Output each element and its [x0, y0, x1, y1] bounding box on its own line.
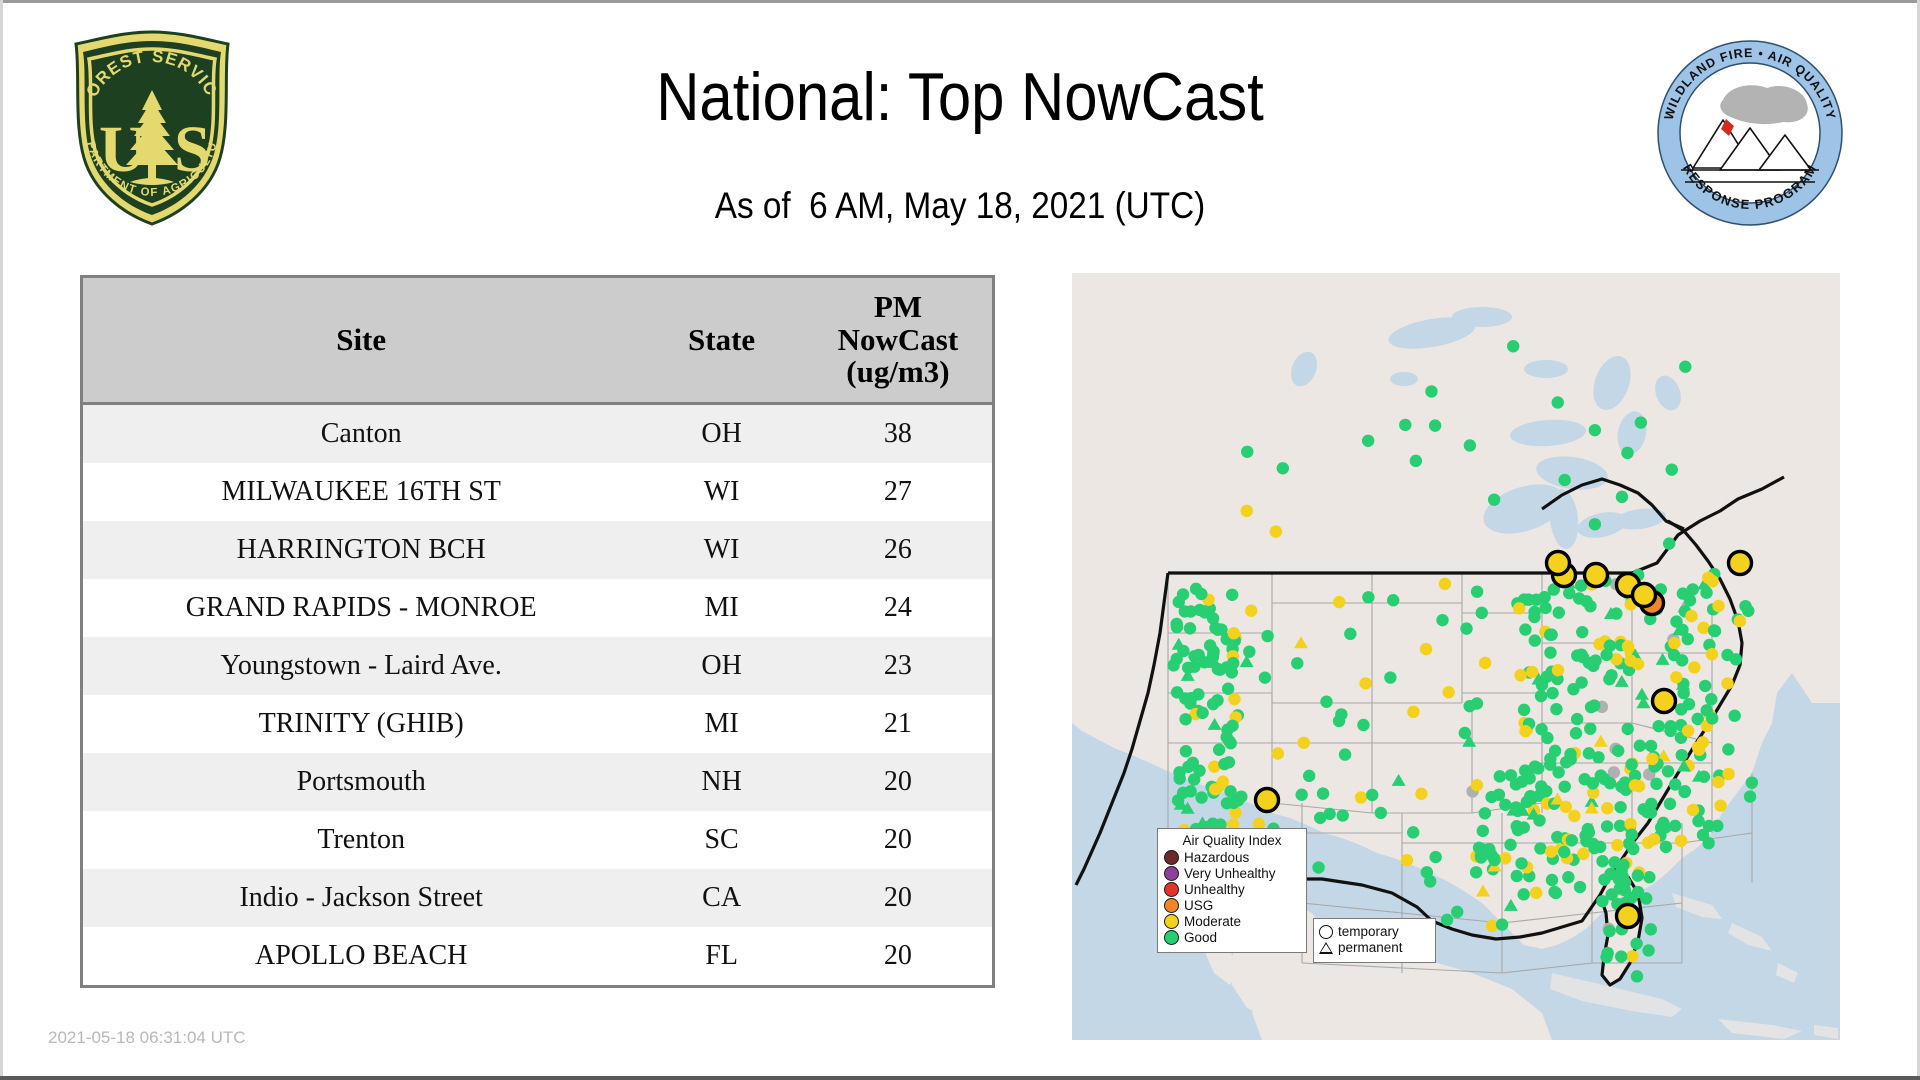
monitor-dot — [1663, 537, 1675, 549]
table-cell-site: Portsmouth — [82, 753, 640, 811]
aqi-legend-label: Very Unhealthy — [1184, 867, 1276, 881]
table-cell-state: OH — [639, 637, 803, 695]
monitor-dot — [1653, 720, 1665, 732]
monitor-dot — [1744, 790, 1756, 802]
monitor-dot — [1524, 790, 1536, 802]
monitor-dot — [1641, 806, 1653, 818]
monitor-dot — [1272, 747, 1284, 759]
table-cell-pm-nowcast: 24 — [804, 579, 994, 637]
monitor-dot — [1559, 780, 1571, 792]
monitor-dot — [1614, 820, 1626, 832]
monitor-dot — [1646, 753, 1658, 765]
monitor-dot — [1241, 505, 1253, 517]
monitor-dot — [1471, 697, 1483, 709]
table-cell-state: WI — [639, 463, 803, 521]
monitor-dot — [1410, 455, 1422, 467]
highlighted-monitor-marker[interactable] — [1256, 789, 1279, 812]
page-subtitle: As of 6 AM, May 18, 2021 (UTC) — [366, 185, 1554, 227]
monitor-dot — [1615, 780, 1627, 792]
monitor-dot — [1552, 664, 1564, 676]
table-row: TrentonSC20 — [82, 811, 994, 869]
monitor-dot — [1291, 657, 1303, 669]
monitor-dot — [1721, 677, 1733, 689]
monitor-dot — [1488, 493, 1500, 505]
monitor-dot — [1562, 871, 1574, 883]
monitor-dot — [1218, 758, 1230, 770]
table-cell-site: APOLLO BEACH — [82, 927, 640, 987]
monitor-dot — [1362, 435, 1374, 447]
aqi-color-swatch — [1164, 850, 1179, 865]
monitor-dot — [1550, 887, 1562, 899]
table-cell-state: SC — [639, 811, 803, 869]
monitor-dot — [1470, 866, 1482, 878]
monitor-dot — [1574, 881, 1586, 893]
aqi-color-swatch — [1164, 930, 1179, 945]
top-nowcast-table-container: Site State PM NowCast (ug/m3) CantonOH38… — [80, 275, 995, 988]
monitor-dot — [1582, 823, 1594, 835]
monitor-dot — [1209, 783, 1221, 795]
monitor-dot — [1624, 818, 1636, 830]
monitor-dot — [1507, 340, 1519, 352]
table-cell-state: MI — [639, 579, 803, 637]
monitor-dot — [1670, 671, 1682, 683]
table-cell-site: MILWAUKEE 16TH ST — [82, 463, 640, 521]
monitor-dot — [1471, 779, 1483, 791]
highlighted-monitor-marker[interactable] — [1547, 552, 1570, 575]
monitor-dot — [1298, 737, 1310, 749]
monitor-dot — [1488, 854, 1500, 866]
monitor-dot — [1687, 804, 1699, 816]
aqi-legend-label: USG — [1184, 899, 1213, 913]
column-header-pm-nowcast: PM NowCast (ug/m3) — [804, 277, 994, 404]
monitor-dot — [1436, 614, 1448, 626]
us-air-quality-monitor-map[interactable]: Air Quality Index HazardousVery Unhealth… — [1072, 273, 1840, 1040]
monitor-dot — [1530, 887, 1542, 899]
monitor-dot — [1460, 622, 1472, 634]
monitor-dot — [1570, 727, 1582, 739]
wfaqrp-logo: WILDLAND FIRE • AIR QUALITY RESPONSE PRO… — [1655, 38, 1845, 228]
monitor-dot — [1655, 821, 1667, 833]
page-left-border — [0, 0, 3, 1080]
table-cell-site: Trenton — [82, 811, 640, 869]
monitor-dot — [1243, 645, 1255, 657]
monitor-dot — [1496, 918, 1508, 930]
table-body: CantonOH38MILWAUKEE 16TH STWI27HARRINGTO… — [82, 404, 994, 987]
monitor-dot — [1722, 768, 1734, 780]
monitor-dot — [1739, 600, 1751, 612]
table-header: Site State PM NowCast (ug/m3) — [82, 277, 994, 404]
monitor-dot — [1662, 765, 1674, 777]
monitor-dot — [1700, 587, 1712, 599]
monitor-dot — [1228, 693, 1240, 705]
slide-canvas: FOREST SERVICE U S DEPARTMENT OF AGRICUL… — [0, 0, 1920, 1080]
monitor-dot — [1359, 677, 1371, 689]
monitor-dot — [1664, 720, 1676, 732]
monitor-dot — [1222, 683, 1234, 695]
aqi-legend-title: Air Quality Index — [1164, 833, 1300, 848]
monitor-dot — [1610, 607, 1622, 619]
monitor-dot — [1629, 779, 1641, 791]
top-nowcast-table: Site State PM NowCast (ug/m3) CantonOH38… — [80, 275, 995, 988]
monitor-dot — [1571, 713, 1583, 725]
table-row: Youngstown - Laird Ave.OH23 — [82, 637, 994, 695]
monitor-dot — [1429, 419, 1441, 431]
aqi-legend-label: Hazardous — [1184, 851, 1249, 865]
monitor-dot — [1685, 610, 1697, 622]
monitor-dot — [1514, 669, 1526, 681]
table-cell-pm-nowcast: 21 — [804, 695, 994, 753]
monitor-dot — [1624, 654, 1636, 666]
column-header-pm-line1: PM — [808, 291, 988, 324]
monitor-dot — [1645, 923, 1657, 935]
monitor-dot — [1337, 809, 1349, 821]
table-cell-pm-nowcast: 27 — [804, 463, 994, 521]
monitor-type-legend: temporary permanent — [1313, 918, 1436, 963]
monitor-dot — [1625, 758, 1637, 770]
monitor-dot — [1407, 826, 1419, 838]
monitor-dot — [1679, 361, 1691, 373]
monitor-dot — [1277, 462, 1289, 474]
monitor-dot — [1642, 836, 1654, 848]
monitor-dot — [1721, 649, 1733, 661]
monitor-dot — [1616, 491, 1628, 503]
legend-row-temporary: temporary — [1319, 925, 1429, 939]
monitor-dot — [1519, 623, 1531, 635]
circle-icon — [1319, 925, 1333, 939]
monitor-dot — [1577, 848, 1589, 860]
monitor-dot — [1693, 743, 1705, 755]
monitor-dot — [1518, 704, 1530, 716]
table-cell-state: MI — [639, 695, 803, 753]
monitor-dot — [1526, 666, 1538, 678]
monitor-dot — [1194, 604, 1206, 616]
highlighted-monitor-marker[interactable] — [1633, 584, 1656, 607]
table-row: MILWAUKEE 16TH STWI27 — [82, 463, 994, 521]
table-cell-site: HARRINGTON BCH — [82, 521, 640, 579]
table-cell-state: OH — [639, 404, 803, 464]
monitor-dot — [1603, 925, 1615, 937]
aqi-legend-items: HazardousVery UnhealthyUnhealthyUSGModer… — [1164, 850, 1300, 945]
monitor-dot — [1519, 725, 1531, 737]
triangle-icon — [1319, 942, 1333, 954]
monitor-dot — [1245, 605, 1257, 617]
monitor-dot — [1712, 600, 1724, 612]
monitor-dot — [1565, 753, 1577, 765]
page-top-border — [0, 0, 1920, 3]
monitor-dot — [1207, 651, 1219, 663]
aqi-legend-label: Unhealthy — [1184, 883, 1245, 897]
table-header-row: Site State PM NowCast (ug/m3) — [82, 277, 994, 404]
monitor-dot — [1699, 680, 1711, 692]
monitor-dot — [1601, 947, 1613, 959]
monitor-dot — [1669, 778, 1681, 790]
monitor-dot — [1589, 424, 1601, 436]
monitor-dot — [1640, 892, 1652, 904]
monitor-dot — [1573, 592, 1585, 604]
monitor-dot — [1179, 605, 1191, 617]
table-cell-pm-nowcast: 20 — [804, 927, 994, 987]
monitor-dot — [1479, 657, 1491, 669]
monitor-dot — [1504, 839, 1516, 851]
monitor-dot — [1734, 615, 1746, 627]
table-cell-state: NH — [639, 753, 803, 811]
monitor-dot — [1714, 799, 1726, 811]
monitor-dot — [1522, 593, 1534, 605]
monitor-dot — [1270, 525, 1282, 537]
monitor-dot — [1214, 664, 1226, 676]
monitor-dot — [1611, 839, 1623, 851]
monitor-dot — [1622, 723, 1634, 735]
aqi-legend: Air Quality Index HazardousVery Unhealth… — [1157, 828, 1307, 953]
monitor-dot — [1177, 588, 1189, 600]
monitor-dot — [1539, 602, 1551, 614]
monitor-dot — [1451, 906, 1463, 918]
monitor-dot — [1211, 694, 1223, 706]
monitor-dot — [1722, 743, 1734, 755]
monitor-dot — [1227, 657, 1239, 669]
monitor-dot — [1473, 842, 1485, 854]
monitor-dot — [1621, 447, 1633, 459]
monitor-dot — [1226, 589, 1238, 601]
monitor-dot — [1295, 789, 1307, 801]
monitor-dot — [1558, 474, 1570, 486]
monitor-dot — [1631, 970, 1643, 982]
monitor-dot — [1677, 687, 1689, 699]
monitor-dot — [1207, 612, 1219, 624]
monitor-dot — [1627, 843, 1639, 855]
monitor-dot — [1317, 787, 1329, 799]
monitor-dot — [1384, 671, 1396, 683]
monitor-dot — [1585, 701, 1597, 713]
monitor-dot — [1375, 807, 1387, 819]
monitor-dot — [1188, 661, 1200, 673]
monitor-dot — [1645, 740, 1657, 752]
monitor-dot — [1642, 944, 1654, 956]
monitor-dot — [1425, 385, 1437, 397]
monitor-dot — [1584, 722, 1596, 734]
monitor-dot — [1420, 643, 1432, 655]
monitor-dot — [1708, 624, 1720, 636]
monitor-dot — [1615, 950, 1627, 962]
monitor-dot — [1566, 834, 1578, 846]
column-header-state: State — [639, 277, 803, 404]
monitor-dot — [1553, 606, 1565, 618]
monitor-dot — [1587, 660, 1599, 672]
aqi-color-swatch — [1164, 898, 1179, 913]
monitor-dot — [1513, 602, 1525, 614]
monitor-dot — [1576, 626, 1588, 638]
monitor-dot — [1339, 748, 1351, 760]
monitor-dot — [1568, 810, 1580, 822]
highlighted-monitor-marker[interactable] — [1653, 690, 1676, 713]
monitor-dot — [1706, 712, 1718, 724]
monitor-dot — [1540, 785, 1552, 797]
column-header-pm-line3: (ug/m3) — [808, 356, 988, 389]
monitor-dot — [1588, 842, 1600, 854]
monitor-dot — [1261, 630, 1273, 642]
highlighted-monitor-marker[interactable] — [1585, 564, 1608, 587]
monitor-dot — [1195, 588, 1207, 600]
table-row: APOLLO BEACHFL20 — [82, 927, 994, 987]
monitor-dot — [1387, 594, 1399, 606]
monitor-dot — [1535, 723, 1547, 735]
monitor-dot — [1682, 725, 1694, 737]
footer-timestamp: 2021-05-18 06:31:04 UTC — [48, 1028, 246, 1048]
monitor-dot — [1558, 846, 1570, 858]
monitor-dot — [1441, 914, 1453, 926]
monitor-dot — [1546, 874, 1558, 886]
table-row: HARRINGTON BCHWI26 — [82, 521, 994, 579]
monitor-dot — [1746, 776, 1758, 788]
table-cell-site: GRAND RAPIDS - MONROE — [82, 579, 640, 637]
aqi-color-swatch — [1164, 882, 1179, 897]
monitor-dot — [1228, 627, 1240, 639]
table-cell-pm-nowcast: 38 — [804, 404, 994, 464]
forest-service-shield-logo: FOREST SERVICE U S DEPARTMENT OF AGRICUL… — [52, 28, 252, 228]
monitor-dot — [1600, 649, 1612, 661]
monitor-dot — [1179, 713, 1191, 725]
aqi-legend-row: Unhealthy — [1164, 882, 1300, 897]
table-cell-state: WI — [639, 521, 803, 579]
monitor-dot — [1595, 769, 1607, 781]
table-cell-site: TRINITY (GHIB) — [82, 695, 640, 753]
monitor-dot — [1196, 707, 1208, 719]
table-row: GRAND RAPIDS - MONROEMI24 — [82, 579, 994, 637]
aqi-legend-row: Good — [1164, 930, 1300, 945]
monitor-dot — [1635, 416, 1647, 428]
aqi-legend-row: USG — [1164, 898, 1300, 913]
monitor-dot — [1567, 683, 1579, 695]
monitor-dot — [1227, 797, 1239, 809]
aqi-color-swatch — [1164, 866, 1179, 881]
monitor-dot — [1517, 888, 1529, 900]
legend-label-permanent: permanent — [1338, 941, 1403, 955]
monitor-dot — [1705, 693, 1717, 705]
column-header-pm-line2: NowCast — [808, 324, 988, 357]
monitor-dot — [1357, 719, 1369, 731]
aqi-legend-label: Good — [1184, 931, 1217, 945]
monitor-dot — [1477, 825, 1489, 837]
aqi-color-swatch — [1164, 914, 1179, 929]
monitor-dot — [1303, 770, 1315, 782]
monitor-dot — [1683, 698, 1695, 710]
monitor-dot — [1712, 776, 1724, 788]
monitor-dot — [1226, 720, 1238, 732]
aqi-legend-row: Moderate — [1164, 914, 1300, 929]
monitor-dot — [1664, 798, 1676, 810]
table-cell-site: Indio - Jackson Street — [82, 869, 640, 927]
monitor-dot — [1549, 745, 1561, 757]
monitor-dot — [1510, 801, 1522, 813]
table-cell-site: Youngstown - Laird Ave. — [82, 637, 640, 695]
monitor-dot — [1213, 744, 1225, 756]
monitor-dot — [1344, 628, 1356, 640]
monitor-dot — [1578, 773, 1590, 785]
table-cell-pm-nowcast: 23 — [804, 637, 994, 695]
monitor-dot — [1193, 765, 1205, 777]
monitor-dot — [1596, 855, 1608, 867]
aqi-legend-label: Moderate — [1184, 915, 1241, 929]
monitor-dot — [1552, 766, 1564, 778]
monitor-dot — [1479, 807, 1491, 819]
monitor-dot — [1589, 518, 1601, 530]
monitor-dot — [1355, 791, 1367, 803]
monitor-dot — [1399, 419, 1411, 431]
monitor-dot — [1666, 463, 1678, 475]
monitor-dot — [1545, 845, 1557, 857]
monitor-dot — [1195, 791, 1207, 803]
table-cell-state: CA — [639, 869, 803, 927]
monitor-dot — [1424, 875, 1436, 887]
aqi-legend-row: Hazardous — [1164, 850, 1300, 865]
legend-row-permanent: permanent — [1319, 941, 1429, 955]
monitor-dot — [1528, 606, 1540, 618]
monitor-dot — [1614, 801, 1626, 813]
monitor-dot — [1476, 607, 1488, 619]
aqi-legend-row: Very Unhealthy — [1164, 866, 1300, 881]
monitor-dot — [1429, 851, 1441, 863]
monitor-dot — [1439, 578, 1451, 590]
monitor-dot — [1668, 637, 1680, 649]
monitor-dot — [1575, 648, 1587, 660]
monitor-dot — [1171, 686, 1183, 698]
monitor-dot — [1212, 624, 1224, 636]
table-cell-pm-nowcast: 20 — [804, 811, 994, 869]
monitor-dot — [1333, 715, 1345, 727]
monitor-dot — [1675, 835, 1687, 847]
monitor-dot — [1471, 585, 1483, 597]
monitor-dot — [1362, 591, 1374, 603]
monitor-dot — [1529, 760, 1541, 772]
monitor-dot — [1650, 778, 1662, 790]
monitor-dot — [1634, 740, 1646, 752]
table-row: CantonOH38 — [82, 404, 994, 464]
monitor-dot — [1603, 673, 1615, 685]
monitor-dot — [1510, 778, 1522, 790]
monitor-dot — [1632, 869, 1644, 881]
monitor-dot — [1185, 692, 1197, 704]
legend-label-temporary: temporary — [1338, 925, 1399, 939]
monitor-dot — [1515, 857, 1527, 869]
monitor-dot — [1550, 703, 1562, 715]
table-cell-pm-nowcast: 20 — [804, 869, 994, 927]
monitor-dot — [1171, 621, 1183, 633]
highlighted-monitor-marker[interactable] — [1617, 905, 1640, 928]
monitor-dot — [1241, 446, 1253, 458]
monitor-dot — [1494, 770, 1506, 782]
monitor-dot — [1676, 654, 1688, 666]
monitor-dot — [1320, 696, 1332, 708]
monitor-dot — [1702, 837, 1714, 849]
monitor-dot — [1626, 950, 1638, 962]
table-cell-site: Canton — [82, 404, 640, 464]
monitor-dot — [1601, 820, 1613, 832]
monitor-dot — [1366, 789, 1378, 801]
monitor-dot — [1546, 687, 1558, 699]
monitor-dot — [1676, 749, 1688, 761]
monitor-dot — [1259, 671, 1271, 683]
monitor-dot — [1511, 870, 1523, 882]
monitor-dot — [1180, 745, 1192, 757]
monitor-dot — [1401, 854, 1413, 866]
monitor-dot — [1442, 686, 1454, 698]
monitor-dot — [1544, 646, 1556, 658]
table-cell-pm-nowcast: 20 — [804, 753, 994, 811]
monitor-dot — [1184, 785, 1196, 797]
monitor-dot — [1552, 396, 1564, 408]
monitor-dot — [1697, 622, 1709, 634]
highlighted-monitor-marker[interactable] — [1729, 552, 1752, 575]
